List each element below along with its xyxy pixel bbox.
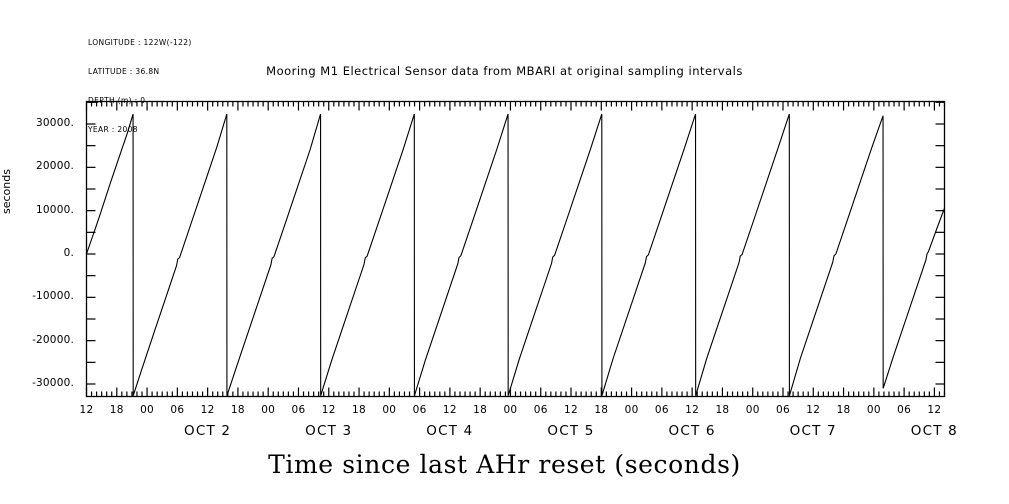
x-hour-label: 18 [344,404,374,416]
x-date-label: OCT 8 [874,423,994,439]
x-hour-label: 18 [465,404,495,416]
x-hour-label: 00 [738,404,768,416]
x-hour-label: 12 [72,404,102,416]
x-hour-label: 12 [556,404,586,416]
x-hour-label: 12 [798,404,828,416]
x-date-label: OCT 5 [511,423,631,439]
x-hour-label: 00 [617,404,647,416]
x-hour-label: 06 [889,404,919,416]
x-hour-label: 12 [193,404,223,416]
x-hour-label: 06 [647,404,677,416]
x-hour-label: 06 [526,404,556,416]
x-hour-label: 18 [707,404,737,416]
x-hour-label: 18 [223,404,253,416]
chart-canvas: LONGITUDE : 122W(-122) LATITUDE : 36.8N … [0,0,1009,504]
x-date-label: OCT 3 [269,423,389,439]
x-hour-label: 06 [768,404,798,416]
x-hour-label: 00 [374,404,404,416]
x-date-label: OCT 6 [632,423,752,439]
x-hour-label: 12 [677,404,707,416]
x-axis-title: Time since last AHr reset (seconds) [0,450,1009,479]
x-hour-label: 12 [314,404,344,416]
x-hour-label: 18 [102,404,132,416]
x-hour-label: 18 [586,404,616,416]
x-date-label: OCT 4 [390,423,510,439]
x-hour-label: 00 [132,404,162,416]
x-date-label: OCT 2 [148,423,268,439]
x-hour-label: 00 [859,404,889,416]
x-date-label: OCT 7 [753,423,873,439]
x-hour-label: 00 [253,404,283,416]
x-hour-label: 12 [919,404,949,416]
x-axis-tick-labels: 1218000612180006121800061218000612180006… [0,0,1009,504]
x-hour-label: 00 [495,404,525,416]
x-hour-label: 12 [435,404,465,416]
x-hour-label: 06 [405,404,435,416]
x-hour-label: 06 [162,404,192,416]
x-hour-label: 18 [829,404,859,416]
x-hour-label: 06 [283,404,313,416]
